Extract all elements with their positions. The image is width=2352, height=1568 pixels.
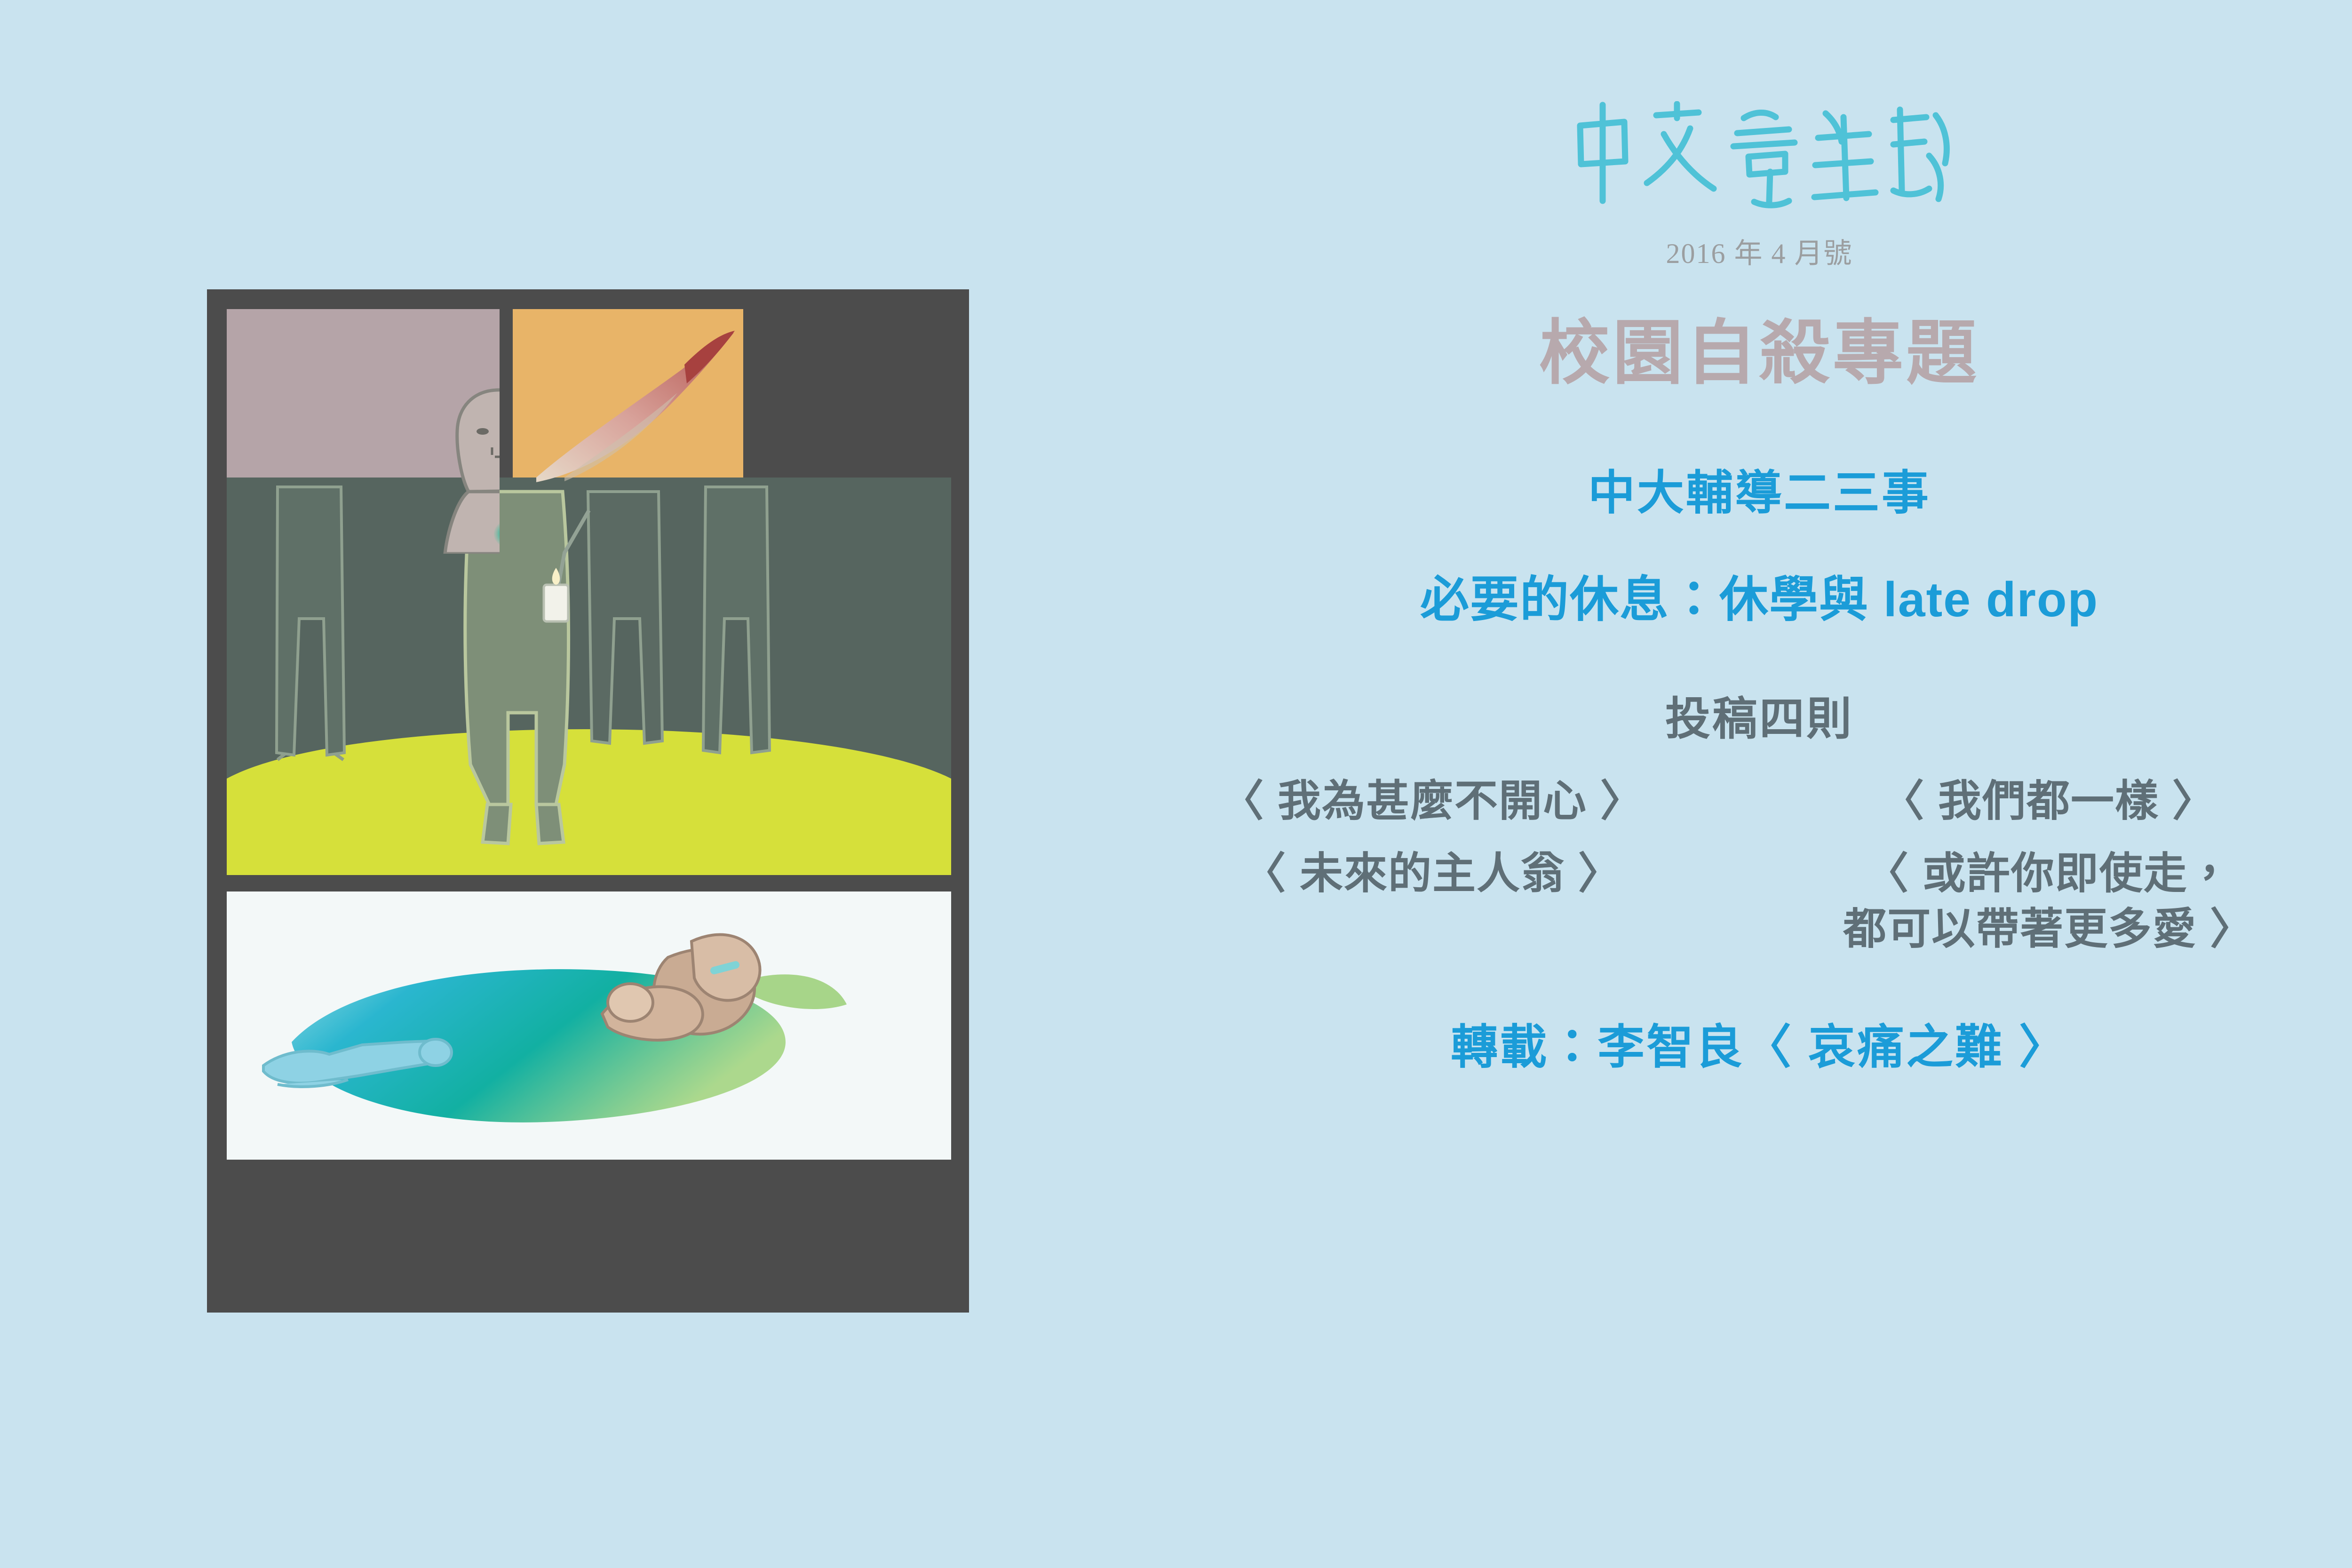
- masthead-and-contents: 2016 年 4 月號 校園自殺專題 中大輔導二三事 必要的休息：休學與 lat…: [1120, 85, 2352, 1077]
- submissions-row: 〈 我為甚麼不開心 〉 〈 我們都一樣 〉: [1120, 774, 2352, 829]
- illustration-canvas: [207, 289, 969, 1313]
- submission-title-4-line1: 〈 或許你即使走，: [1722, 846, 2352, 902]
- issue-date: 2016 年 4 月號: [1120, 231, 2352, 271]
- comic-panels-illustration: [207, 289, 969, 1313]
- submissions-list: 〈 我為甚麼不開心 〉 〈 我們都一樣 〉 〈 未來的主人翁 〉 〈 或許你即使…: [1120, 774, 2352, 957]
- submissions-row: 〈 未來的主人翁 〉 〈 或許你即使走， 都可以帶著更多愛 〉: [1120, 846, 2352, 957]
- reprint-credit: 轉載：李智良〈 哀痛之難 〉: [1120, 1009, 2352, 1077]
- submission-title-1: 〈 我為甚麼不開心 〉: [1143, 774, 1722, 829]
- logo-handwriting-icon: [1564, 101, 1955, 209]
- section-submissions-heading: 投稿四則: [1120, 682, 2352, 748]
- section-counselling: 中大輔導二三事: [1120, 454, 2352, 523]
- submission-title-4: 〈 或許你即使走， 都可以帶著更多愛 〉: [1722, 846, 2352, 957]
- page-title: 校園自殺專題: [1120, 296, 2352, 398]
- submission-title-4-line2: 都可以帶著更多愛 〉: [1722, 902, 2352, 957]
- section-rest: 必要的休息：休學與 late drop: [1120, 559, 2352, 630]
- submission-title-3: 〈 未來的主人翁 〉: [1143, 846, 1722, 902]
- submission-title-2: 〈 我們都一樣 〉: [1722, 774, 2352, 829]
- panel-orange-flame-bg: [513, 309, 743, 483]
- masthead-logo: [1120, 85, 2352, 226]
